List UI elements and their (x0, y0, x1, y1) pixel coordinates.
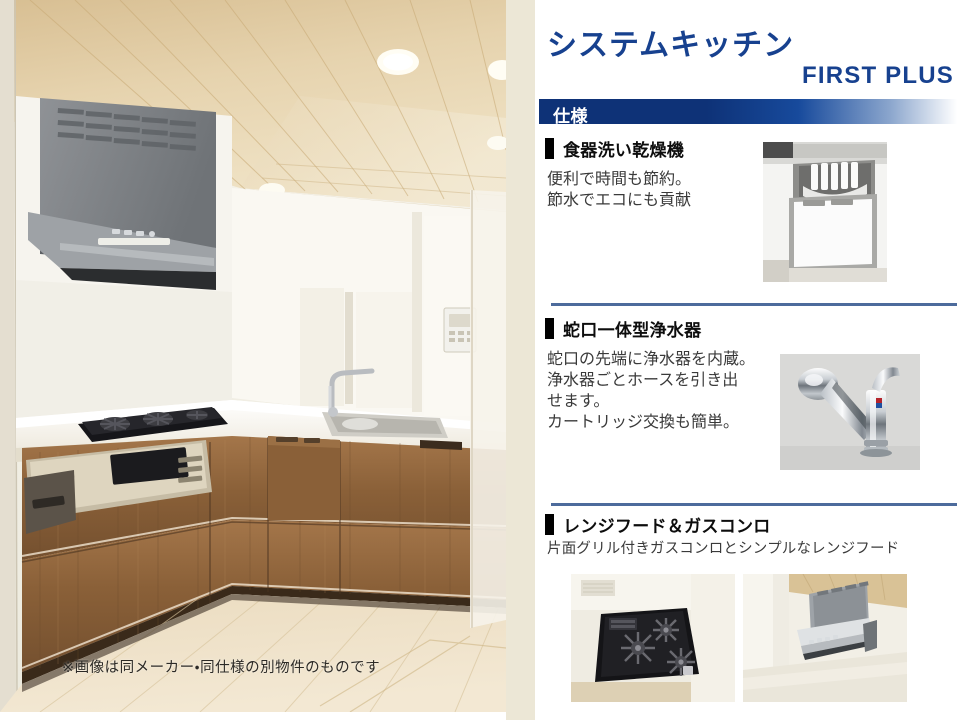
brand-name: FIRST PLUS (802, 62, 954, 90)
section-title: レンジフード＆ガスコンロ (563, 512, 771, 537)
section-divider (551, 303, 957, 306)
range-hood-thumbnail (743, 574, 907, 702)
dishwasher-thumbnail (763, 142, 887, 282)
faucet-illustration (780, 354, 920, 470)
section-heading: レンジフード＆ガスコンロ (545, 512, 960, 537)
section-marker-icon (545, 318, 554, 339)
faucet-water-purifier-thumbnail (780, 354, 920, 470)
section-divider (551, 503, 957, 506)
main-kitchen-photo-illustration (0, 0, 506, 712)
spec-section-range-hood-stove: レンジフード＆ガスコンロ 片面グリル付きガスコンロとシンプルなレンジフード (535, 512, 960, 559)
dishwasher-illustration (763, 142, 887, 282)
section-title: 食器洗い乾燥機 (563, 136, 684, 161)
section-description: 片面グリル付きガスコンロとシンプルなレンジフード (547, 540, 960, 559)
kitchen-spec-page: ※画像は同メーカー・同仕様の別物件のものです システムキッチン FIRST PL… (0, 0, 960, 720)
section-heading: 食器洗い乾燥機 (545, 136, 960, 161)
spec-section-dishwasher: 食器洗い乾燥機 便利で時間も節約。 節水でエコにも貢献 (535, 136, 960, 210)
main-kitchen-photo: ※画像は同メーカー・同仕様の別物件のものです (0, 0, 506, 712)
section-marker-icon (545, 138, 554, 159)
spec-section-water-purifier: 蛇口一体型浄水器 蛇口の先端に浄水器を内蔵。 浄水器ごとホースを引き出 せます。… (535, 316, 960, 432)
gas-stove-thumbnail (571, 574, 735, 702)
section-marker-icon (545, 514, 554, 535)
spec-section-bar-label: 仕様 (553, 102, 588, 127)
page-title: システムキッチン (547, 20, 794, 64)
section-description: 便利で時間も節約。 節水でエコにも貢献 (547, 168, 960, 210)
section-heading: 蛇口一体型浄水器 (545, 316, 960, 341)
range-hood-illustration (743, 574, 907, 702)
photo-disclaimer-caption: ※画像は同メーカー・同仕様の別物件のものです (62, 656, 380, 677)
spec-section-bar: 仕様 (539, 99, 957, 124)
gas-stove-illustration (571, 574, 735, 702)
section-title: 蛇口一体型浄水器 (563, 316, 701, 341)
divider-strip (506, 0, 535, 720)
spec-panel: システムキッチン FIRST PLUS 仕様 食器洗い乾燥機 便利で時間も節約。… (535, 0, 960, 720)
